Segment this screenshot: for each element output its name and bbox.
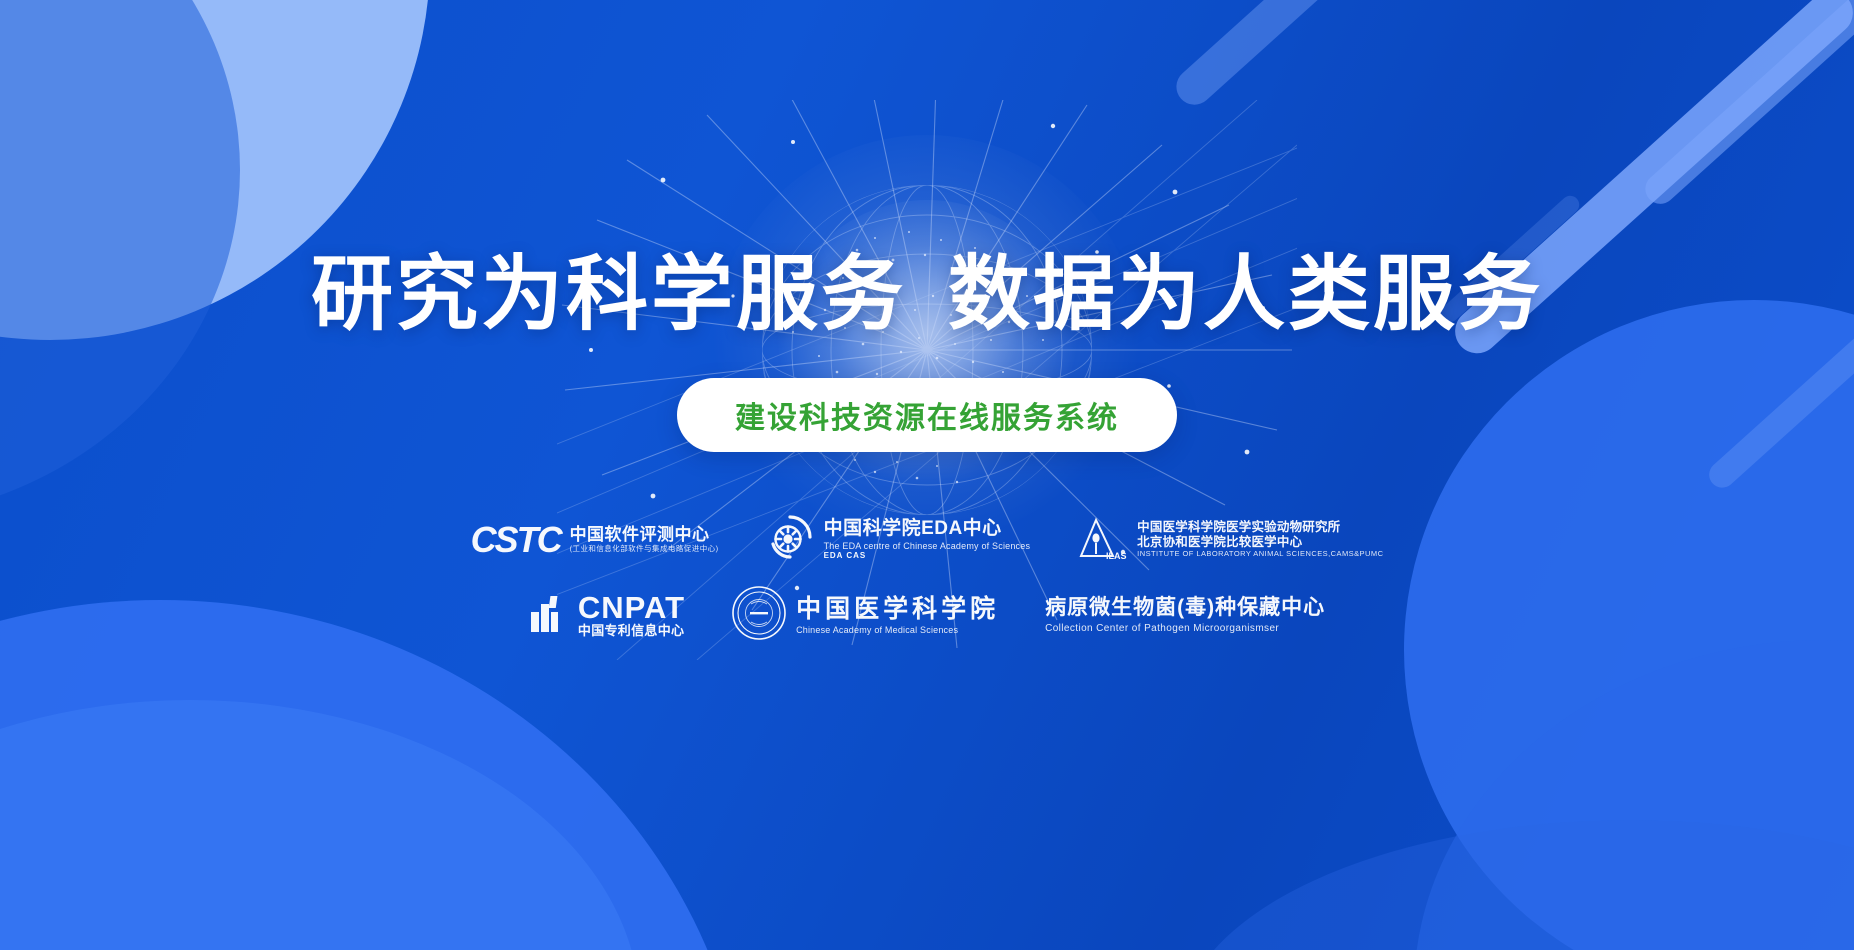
cstc-wordmark-icon: CSTC bbox=[471, 522, 561, 558]
logo-eda-cas-tag: EDA CAS bbox=[824, 551, 1031, 560]
logo-ilas-name-en: INSTITUTE OF LABORATORY ANIMAL SCIENCES,… bbox=[1137, 550, 1383, 559]
logo-pathogen-name-cn: 病原微生物菌(毒)种保藏中心 bbox=[1045, 596, 1325, 621]
logo-pathogen-name-en: Collection Center of Pathogen Microorgan… bbox=[1045, 623, 1325, 635]
logo-eda-cas-name-cn: 中国科学院EDA中心 bbox=[824, 518, 1031, 540]
logo-cnpat-name-cn: 中国专利信息中心 bbox=[578, 623, 685, 638]
logo-cstc-sub-cn: (工业和信息化部软件与集成电路促进中心) bbox=[570, 545, 719, 554]
logo-eda-cas[interactable]: 中国科学院EDA中心 The EDA centre of Chinese Aca… bbox=[765, 512, 1031, 567]
logo-cnpat[interactable]: CNPAT 中国专利信息中心 bbox=[529, 592, 685, 639]
decorative-blob-right-bottom bbox=[1414, 640, 1854, 950]
logo-eda-cas-name-en: The EDA centre of Chinese Academy of Sci… bbox=[824, 541, 1031, 552]
logo-cstc[interactable]: CSTC 中国软件评测中心 (工业和信息化部软件与集成电路促进中心) bbox=[471, 522, 719, 558]
partner-logo-row-2: CNPAT 中国专利信息中心 bbox=[529, 585, 1325, 646]
logo-cams[interactable]: 中国医学科学院 Chinese Academy of Medical Scien… bbox=[731, 585, 999, 646]
svg-text:ILAS: ILAS bbox=[1106, 551, 1127, 561]
decorative-blob-bottom-center bbox=[1180, 820, 1854, 950]
headline-part-1: 研究为科学服务 bbox=[311, 254, 906, 336]
eda-cas-emblem-icon bbox=[765, 512, 815, 567]
ilas-emblem-icon: ILAS bbox=[1076, 512, 1128, 567]
pathogen-collection-icon: 病原微生物菌(毒)种保藏中心 Collection Center of Path… bbox=[1045, 596, 1325, 636]
decorative-blob-bottom-left-2 bbox=[0, 700, 640, 950]
partner-logos: CSTC 中国软件评测中心 (工业和信息化部软件与集成电路促进中心) bbox=[471, 512, 1384, 646]
partner-logo-row-1: CSTC 中国软件评测中心 (工业和信息化部软件与集成电路促进中心) bbox=[471, 512, 1384, 567]
headline-part-2: 数据为人类服务 bbox=[948, 254, 1543, 336]
decorative-blob-bottom-left bbox=[0, 600, 750, 950]
logo-pathogen-collection[interactable]: 病原微生物菌(毒)种保藏中心 Collection Center of Path… bbox=[1045, 596, 1325, 636]
logo-ilas-name-cn-2: 北京协和医学院比较医学中心 bbox=[1137, 535, 1383, 550]
banner-content: 研究为科学服务 数据为人类服务 建设科技资源在线服务系统 CSTC 中国软件评测… bbox=[0, 0, 1854, 646]
subtitle-pill-button[interactable]: 建设科技资源在线服务系统 bbox=[677, 378, 1177, 452]
cams-seal-icon bbox=[731, 585, 787, 646]
logo-cstc-name-cn: 中国软件评测中心 bbox=[570, 525, 719, 545]
cnpat-wordmark: CNPAT bbox=[578, 592, 685, 623]
logo-cams-name-cn: 中国医学科学院 bbox=[796, 595, 999, 625]
cnpat-bars-icon bbox=[529, 592, 569, 639]
banner-stage: 研究为科学服务 数据为人类服务 建设科技资源在线服务系统 CSTC 中国软件评测… bbox=[0, 0, 1854, 950]
logo-ilas-name-cn-1: 中国医学科学院医学实验动物研究所 bbox=[1137, 520, 1383, 535]
logo-ilas[interactable]: ILAS 中国医学科学院医学实验动物研究所 北京协和医学院比较医学中心 INST… bbox=[1076, 512, 1383, 567]
logo-cams-name-en: Chinese Academy of Medical Sciences bbox=[796, 625, 999, 636]
page-title: 研究为科学服务 数据为人类服务 bbox=[311, 254, 1543, 336]
